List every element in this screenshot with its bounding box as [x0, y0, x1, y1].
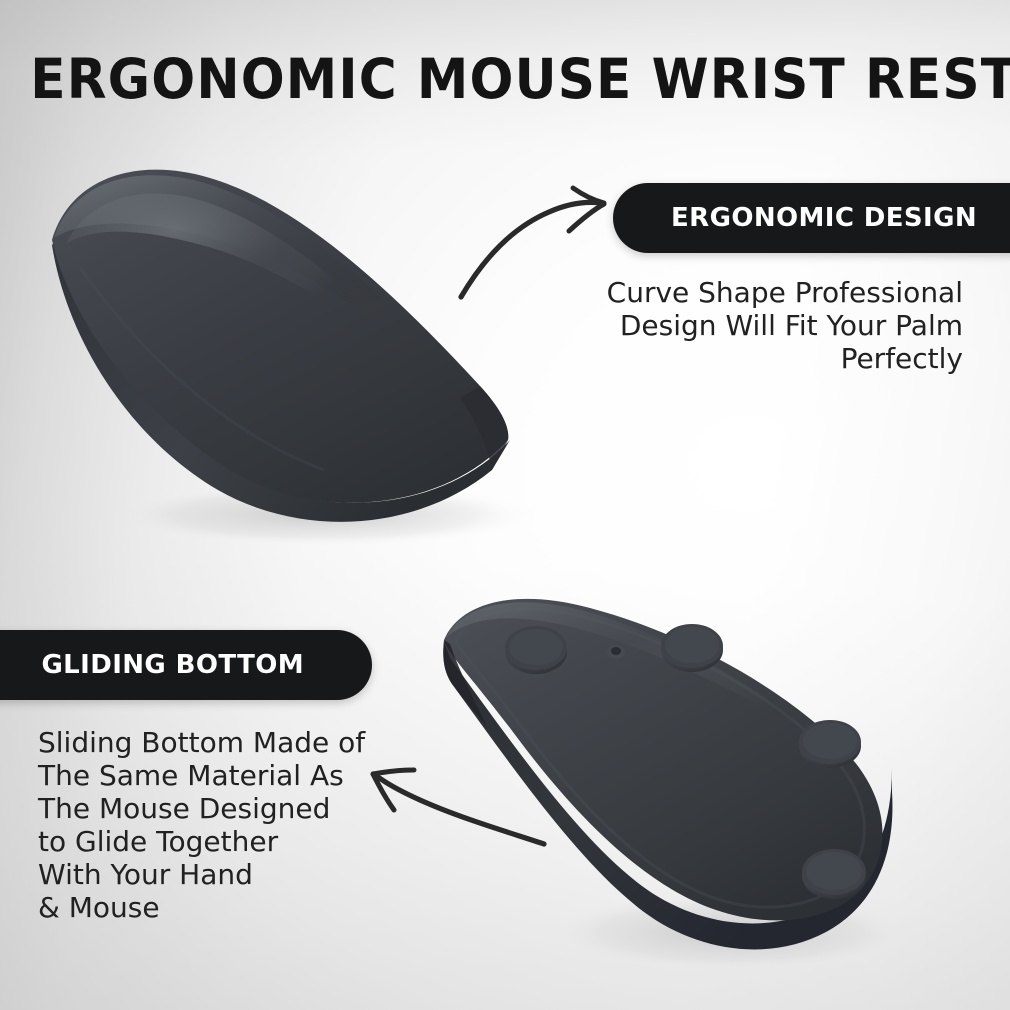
badge-ergonomic-design[interactable]: ERGONOMIC DESIGN	[613, 183, 1010, 253]
vent-hole	[607, 645, 625, 659]
description-ergonomic-design: Curve Shape Professional Design Will Fit…	[607, 276, 963, 375]
description-gliding-bottom: Sliding Bottom Made of The Same Material…	[38, 726, 365, 924]
badge-gliding-bottom[interactable]: GLIDING BOTTOM	[0, 630, 372, 700]
product-image-bottom-view	[430, 580, 990, 980]
badge-ergonomic-design-label: ERGONOMIC DESIGN	[671, 203, 977, 233]
infographic-canvas: ERGONOMIC MOUSE WRIST REST	[0, 0, 1010, 1010]
badge-gliding-bottom-label: GLIDING BOTTOM	[41, 650, 304, 680]
page-title: ERGONOMIC MOUSE WRIST REST	[30, 50, 979, 108]
